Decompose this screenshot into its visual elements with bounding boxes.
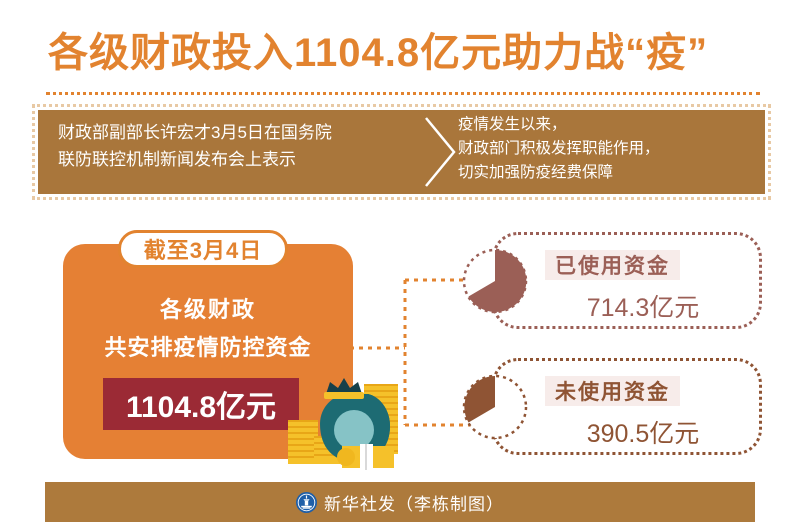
title-divider <box>46 92 760 95</box>
header-band: 财政部副部长许宏才3月5日在国务院 联防联控机制新闻发布会上表示 疫情发生以来，… <box>38 110 765 194</box>
pie-chart-unused-icon <box>462 374 528 440</box>
total-value-text: 1104.8亿元 <box>126 382 276 426</box>
panel-used-value: 714.3亿元 <box>543 288 743 324</box>
header-right-line1: 疫情发生以来， <box>458 113 748 137</box>
as-of-date-badge: 截至3月4日 <box>118 230 288 268</box>
panel-used-label: 已使用资金 <box>545 250 680 280</box>
panel-unused-value: 390.5亿元 <box>543 414 743 450</box>
xinhua-logo-icon <box>296 492 317 513</box>
header-right-line3: 切实加强防疫经费保障 <box>458 161 748 185</box>
main-card-line1: 各级财政 <box>63 292 353 324</box>
chevron-right-icon <box>420 116 460 188</box>
header-left-line2: 联防联控机制新闻发布会上表示 <box>58 146 418 173</box>
infographic-canvas: 各级财政投入1104.8亿元助力战“疫” 财政部副部长许宏才3月5日在国务院 联… <box>0 0 800 526</box>
header-left-text: 财政部副部长许宏才3月5日在国务院 联防联控机制新闻发布会上表示 <box>58 119 418 173</box>
pie-chart-used-icon <box>462 248 528 314</box>
footer-bar: 新华社发（李栋制图） <box>45 482 755 522</box>
header-right-text: 疫情发生以来， 财政部门积极发挥职能作用， 切实加强防疫经费保障 <box>458 113 748 185</box>
header-left-line1: 财政部副部长许宏才3月5日在国务院 <box>58 119 418 146</box>
footer-content: 新华社发（李栋制图） <box>296 490 504 515</box>
panel-unused-label: 未使用资金 <box>545 376 680 406</box>
total-value-box: 1104.8亿元 <box>103 378 299 430</box>
page-title: 各级财政投入1104.8亿元助力战“疫” <box>48 26 768 80</box>
header-right-line2: 财政部门积极发挥职能作用， <box>458 137 748 161</box>
main-card-line2: 共安排疫情防控资金 <box>63 330 353 362</box>
footer-credit: 新华社发（李栋制图） <box>324 490 504 515</box>
